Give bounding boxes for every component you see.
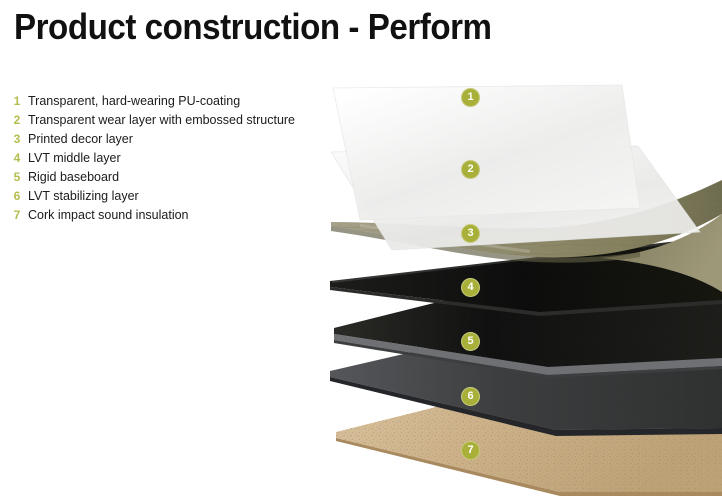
layer-lvt-stabilizing	[330, 321, 722, 436]
legend-label: Cork impact sound insulation	[28, 206, 189, 225]
legend-number: 1	[6, 92, 28, 111]
product-construction-diagram	[0, 0, 722, 496]
legend-label: Rigid baseboard	[28, 168, 119, 187]
layer-badge-6: 6	[461, 387, 480, 406]
layer-badge-4: 4	[461, 278, 480, 297]
legend-number: 5	[6, 168, 28, 187]
list-item: 5 Rigid baseboard	[6, 168, 336, 187]
layer-rigid-baseboard	[334, 274, 722, 378]
list-item: 7 Cork impact sound insulation	[6, 206, 336, 225]
layer-badge-3: 3	[461, 224, 480, 243]
legend-number: 4	[6, 149, 28, 168]
layer-badge-2: 2	[461, 160, 480, 179]
legend-label: Transparent, hard-wearing PU-coating	[28, 92, 240, 111]
list-item: 3 Printed decor layer	[6, 130, 336, 149]
page-title: Product construction - Perform	[14, 6, 492, 48]
layer-wear	[331, 146, 700, 250]
list-item: 6 LVT stabilizing layer	[6, 187, 336, 206]
legend-number: 3	[6, 130, 28, 149]
layer-badge-5: 5	[461, 332, 480, 351]
list-item: 4 LVT middle layer	[6, 149, 336, 168]
legend-label: LVT stabilizing layer	[28, 187, 139, 206]
layer-pu-coating	[333, 85, 640, 220]
layer-badge-1: 1	[461, 88, 480, 107]
legend-number: 2	[6, 111, 28, 130]
layer-cork-insulation	[336, 377, 722, 496]
legend-number: 6	[6, 187, 28, 206]
layer-badge-7: 7	[461, 441, 480, 460]
list-item: 2 Transparent wear layer with embossed s…	[6, 111, 336, 130]
list-item: 1 Transparent, hard-wearing PU-coating	[6, 92, 336, 111]
legend-label: Transparent wear layer with embossed str…	[28, 111, 295, 130]
layer-legend: 1 Transparent, hard-wearing PU-coating 2…	[6, 92, 336, 225]
layer-decor	[331, 180, 722, 292]
legend-label: Printed decor layer	[28, 130, 133, 149]
legend-number: 7	[6, 206, 28, 225]
legend-label: LVT middle layer	[28, 149, 121, 168]
layer-lvt-middle	[330, 236, 722, 316]
